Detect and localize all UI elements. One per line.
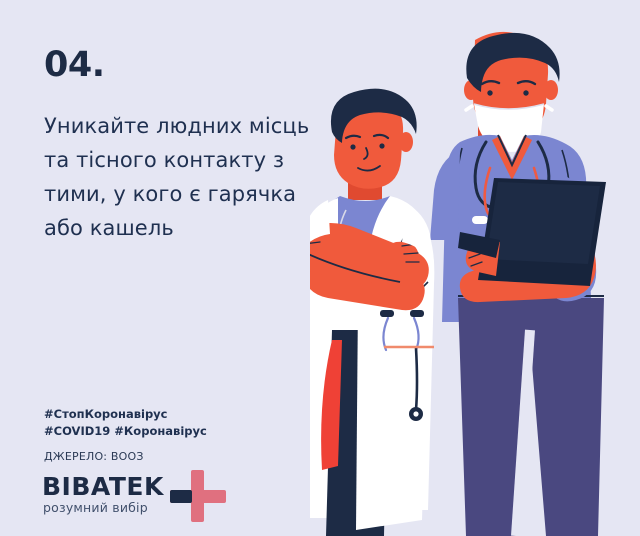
source-line: ДЖЕРЕЛО: ВООЗ	[44, 450, 324, 463]
figure-doctor-white-coat	[310, 89, 434, 536]
brand-logo: BIBATEK розумний вибір	[42, 470, 252, 526]
scrubs-doctor-eye-right	[523, 90, 528, 95]
cross-accent-bar	[170, 490, 192, 503]
stethoscope-earpiece-left	[472, 216, 488, 224]
copy-block: 04. Уникайте людних місць та тісного кон…	[44, 48, 314, 245]
step-number: 04.	[44, 48, 314, 83]
logo-tagline: розумний вибір	[43, 502, 164, 515]
coat-doctor-ear	[399, 132, 413, 152]
pocket-stethoscope-cord	[416, 348, 417, 410]
scrubs-left-sleeve	[430, 150, 460, 240]
hashtag-line-2: #COVID19 #Коронавірус	[44, 423, 324, 440]
pocket-stethoscope-chestpiece-center	[413, 411, 418, 416]
headline-text: Уникайте людних місць та тісного контакт…	[44, 109, 314, 245]
clipboard-paper	[486, 182, 600, 264]
pocket-stethoscope-earpiece-left	[380, 310, 394, 317]
figure-doctor-scrubs	[430, 32, 606, 536]
coat-doctor-eye-left	[350, 144, 355, 149]
doctors-illustration-svg	[310, 0, 640, 536]
medical-cross-icon	[170, 470, 226, 522]
scrubs-doctor-ear-right	[544, 80, 558, 100]
doctors-illustration	[310, 0, 640, 536]
coat-doctor-eye-right	[379, 143, 384, 148]
logo-wordmark: BIBATEK	[42, 474, 164, 499]
pocket-stethoscope-earpiece-right	[410, 310, 424, 317]
hashtag-line-1: #СтопКоронавірус	[44, 406, 324, 423]
poster-canvas: 04. Уникайте людних місць та тісного кон…	[0, 0, 640, 536]
logo-text-group: BIBATEK розумний вибір	[42, 474, 164, 515]
scrubs-doctor-eye-left	[487, 90, 492, 95]
tag-block: #СтопКоронавірус #COVID19 #Коронавірус Д…	[44, 406, 324, 463]
